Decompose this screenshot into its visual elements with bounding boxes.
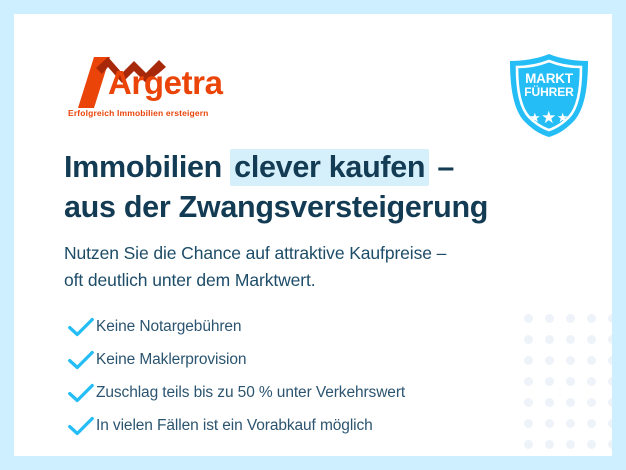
decorative-dot: [587, 440, 596, 449]
list-item: Keine Notargebühren: [66, 310, 536, 343]
check-icon: [66, 350, 96, 370]
argetra-logo[interactable]: Argetra Erfolgreich Immobilien ersteiger…: [64, 56, 264, 128]
decorative-dot: [608, 314, 612, 323]
check-icon: [66, 383, 96, 403]
subtitle-line-1: Nutzen Sie die Chance auf attraktive Kau…: [64, 243, 446, 263]
decorative-dot: [608, 377, 612, 386]
headline-highlight: clever kaufen: [230, 149, 429, 186]
decorative-dot: [566, 356, 575, 365]
check-icon: [66, 416, 96, 436]
decorative-dot: [608, 356, 612, 365]
decorative-dot: [608, 335, 612, 344]
decorative-dot: [587, 314, 596, 323]
star-icon: ★: [557, 110, 569, 125]
decorative-dot: [566, 314, 575, 323]
decorative-dot: [587, 419, 596, 428]
decorative-dot: [608, 398, 612, 407]
decorative-dot: [566, 419, 575, 428]
logo-wordmark: Argetra: [108, 66, 223, 99]
list-item: In vielen Fällen ist ein Vorabkauf mögli…: [66, 409, 536, 442]
benefit-list: Keine Notargebühren Keine Maklerprovisio…: [66, 310, 536, 442]
badge-stars: ★★★: [504, 109, 594, 126]
list-item-label: Keine Maklerprovision: [96, 351, 246, 369]
list-item-label: Keine Notargebühren: [96, 318, 241, 336]
market-leader-badge: MARKT FÜHRER ★★★: [504, 52, 594, 138]
decorative-dot: [587, 356, 596, 365]
logo-tagline: Erfolgreich Immobilien ersteigern: [68, 108, 209, 118]
subtitle-line-2: oft deutlich unter dem Marktwert.: [64, 270, 316, 290]
decorative-dot: [545, 377, 554, 386]
decorative-dot-grid: [524, 314, 612, 456]
decorative-dot: [545, 440, 554, 449]
decorative-dot: [545, 398, 554, 407]
decorative-dot: [566, 335, 575, 344]
headline-part-before: Immobilien: [64, 150, 230, 184]
decorative-dot: [566, 377, 575, 386]
decorative-dot: [566, 398, 575, 407]
headline-line-2: aus der Zwangsversteigerung: [64, 190, 488, 224]
headline-part-after: –: [429, 150, 454, 184]
page-title: Immobilien clever kaufen – aus der Zwang…: [64, 148, 564, 228]
promo-banner: Argetra Erfolgreich Immobilien ersteiger…: [0, 0, 626, 470]
decorative-dot: [566, 440, 575, 449]
decorative-dot: [587, 377, 596, 386]
banner-card: Argetra Erfolgreich Immobilien ersteiger…: [14, 14, 612, 456]
check-icon: [66, 317, 96, 337]
decorative-dot: [545, 335, 554, 344]
headline-line-1: Immobilien clever kaufen –: [64, 149, 454, 186]
decorative-dot: [545, 356, 554, 365]
decorative-dot: [587, 398, 596, 407]
star-icon: ★: [541, 108, 557, 127]
decorative-dot: [587, 335, 596, 344]
list-item-label: Zuschlag teils bis zu 50 % unter Verkehr…: [96, 384, 405, 402]
list-item: Zuschlag teils bis zu 50 % unter Verkehr…: [66, 376, 536, 409]
list-item: Keine Maklerprovision: [66, 343, 536, 376]
decorative-dot: [545, 314, 554, 323]
decorative-dot: [608, 440, 612, 449]
star-icon: ★: [529, 110, 541, 125]
list-item-label: In vielen Fällen ist ein Vorabkauf mögli…: [96, 417, 373, 435]
page-subtitle: Nutzen Sie die Chance auf attraktive Kau…: [64, 240, 574, 293]
decorative-dot: [608, 419, 612, 428]
decorative-dot: [545, 419, 554, 428]
